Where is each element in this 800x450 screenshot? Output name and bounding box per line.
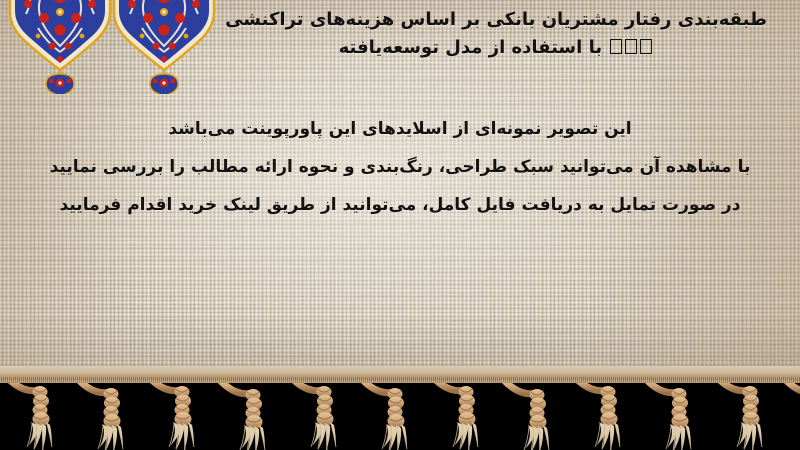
slide-title-line-2: با استفاده از مدل توسعه‌یافته <box>206 34 786 63</box>
slide-body-text: این تصویر نمونه‌ای از اسلایدهای این پاور… <box>0 110 800 224</box>
persian-pendant-ornament <box>150 70 178 94</box>
slide-title-line-1: طبقه‌بندی رفتار مشتریان بانکی بر اساس هز… <box>206 6 786 34</box>
slide-title: طبقه‌بندی رفتار مشتریان بانکی بر اساس هز… <box>206 6 786 63</box>
slide-canvas: طبقه‌بندی رفتار مشتریان بانکی بر اساس هز… <box>0 0 800 450</box>
body-line-2: با مشاهده آن می‌توانید سبک طراحی، رنگ‌بن… <box>0 148 800 186</box>
carpet-edge <box>0 366 800 380</box>
body-line-3: در صورت تمایل به دریافت فایل کامل، می‌تو… <box>0 186 800 224</box>
tassel-fringe-band <box>0 366 800 450</box>
body-line-1: این تصویر نمونه‌ای از اسلایدهای این پاور… <box>0 110 800 148</box>
persian-medallion-ornament-right <box>112 0 216 94</box>
missing-glyph-boxes <box>608 35 653 63</box>
slide-title-line-2-text: با استفاده از مدل توسعه‌یافته <box>339 37 602 58</box>
persian-medallion-ornament-left <box>8 0 112 94</box>
persian-pendant-ornament <box>46 70 74 94</box>
